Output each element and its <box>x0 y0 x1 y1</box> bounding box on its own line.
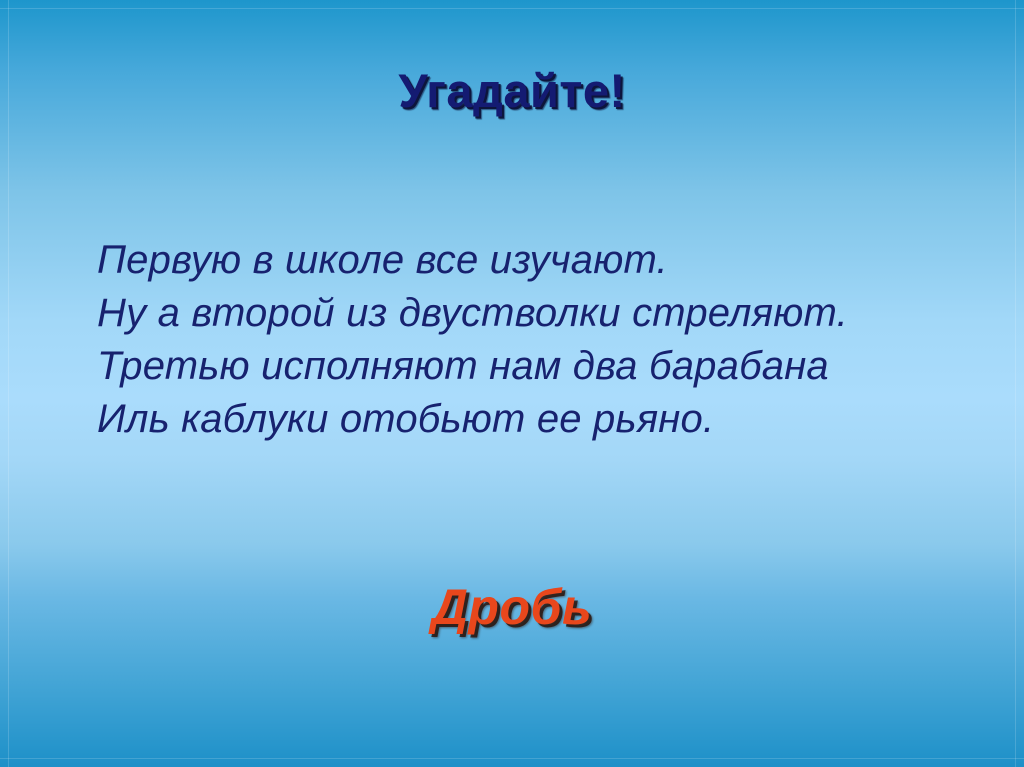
riddle-text-block: Первую в школе все изучают. Ну а второй … <box>97 234 957 446</box>
slide-title: Угадайте! <box>0 66 1024 115</box>
riddle-line: Первую в школе все изучают. <box>97 234 957 287</box>
riddle-answer-block: Дробь <box>0 578 1024 636</box>
riddle-answer-word: Дробь <box>432 578 592 636</box>
riddle-line: Третью исполняют нам два барабана <box>97 340 957 393</box>
slide-border-top <box>0 8 1024 9</box>
riddle-line: Ну а второй из двустволки стреляют. <box>97 287 957 340</box>
slide-border-bottom <box>0 758 1024 759</box>
presentation-slide: Угадайте! Первую в школе все изучают. Ну… <box>0 0 1024 767</box>
riddle-line: Иль каблуки отобьют ее рьяно. <box>97 393 957 446</box>
